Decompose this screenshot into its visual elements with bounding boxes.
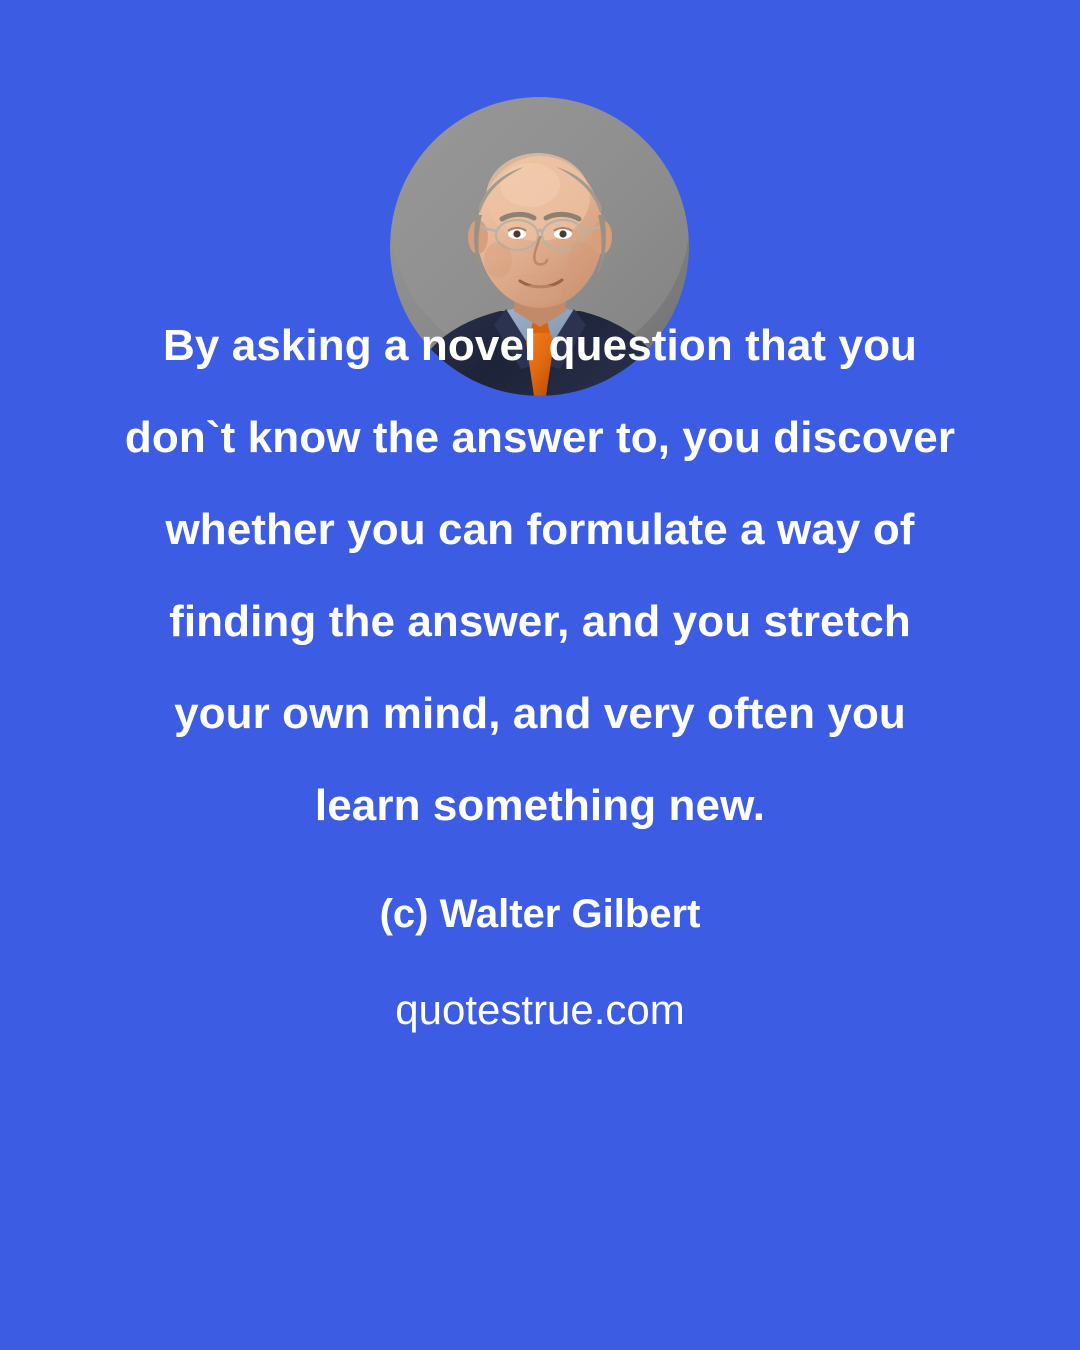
quote-line: learn something new. bbox=[60, 760, 1020, 852]
quote-text: By asking a novel question that you don`… bbox=[0, 300, 1080, 852]
quote-line: By asking a novel question that you bbox=[60, 300, 1020, 392]
quote-line: your own mind, and very often you bbox=[60, 668, 1020, 760]
website-watermark: quotestrue.com bbox=[0, 986, 1080, 1034]
quote-line: don`t know the answer to, you discover bbox=[60, 392, 1020, 484]
quote-card: By asking a novel question that you don`… bbox=[0, 0, 1080, 1350]
quote-line: finding the answer, and you stretch bbox=[60, 576, 1020, 668]
quote-line: whether you can formulate a way of bbox=[60, 484, 1020, 576]
quote-attribution: (c) Walter Gilbert bbox=[0, 892, 1080, 937]
